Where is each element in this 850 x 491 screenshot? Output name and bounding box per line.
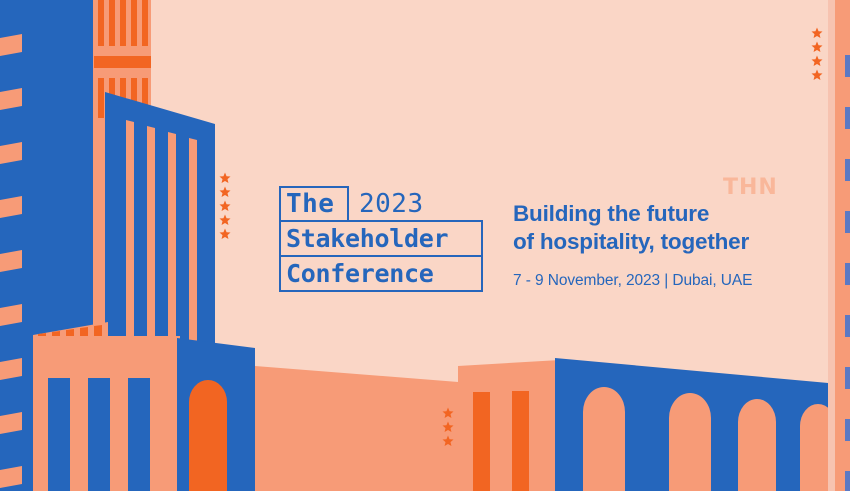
right-tower-windows (845, 55, 850, 491)
the-box: The (279, 186, 349, 222)
tagline-line-1: Building the future (513, 200, 752, 228)
salmon-riser (458, 360, 560, 491)
blue-block-arch (177, 338, 255, 491)
title-conference: Conference (286, 261, 434, 286)
salmon-block-mid (33, 336, 180, 491)
right-salmon-tower (828, 0, 850, 491)
thn-logo: THN (723, 175, 778, 200)
conference-box: Conference (279, 255, 483, 292)
orange-arch (189, 380, 227, 491)
salmon-block-windows (48, 378, 150, 491)
title-stakeholder: Stakeholder (286, 226, 448, 251)
title-the: The (286, 191, 334, 217)
conference-banner: The 2023 Stakeholder Conference THN Buil… (0, 0, 850, 491)
title-year: 2023 (359, 186, 424, 222)
date-location-line: 7 - 9 November, 2023 | Dubai, UAE (513, 272, 752, 290)
tagline-line-2: of hospitality, together (513, 228, 752, 256)
title-row-one: The 2023 (279, 186, 483, 222)
left-tower-windows (0, 34, 22, 488)
tagline-block: Building the future of hospitality, toge… (513, 200, 752, 290)
event-title-lockup: The 2023 Stakeholder Conference (279, 186, 483, 292)
stakeholder-box: Stakeholder (279, 220, 483, 257)
tower-band (94, 56, 151, 68)
